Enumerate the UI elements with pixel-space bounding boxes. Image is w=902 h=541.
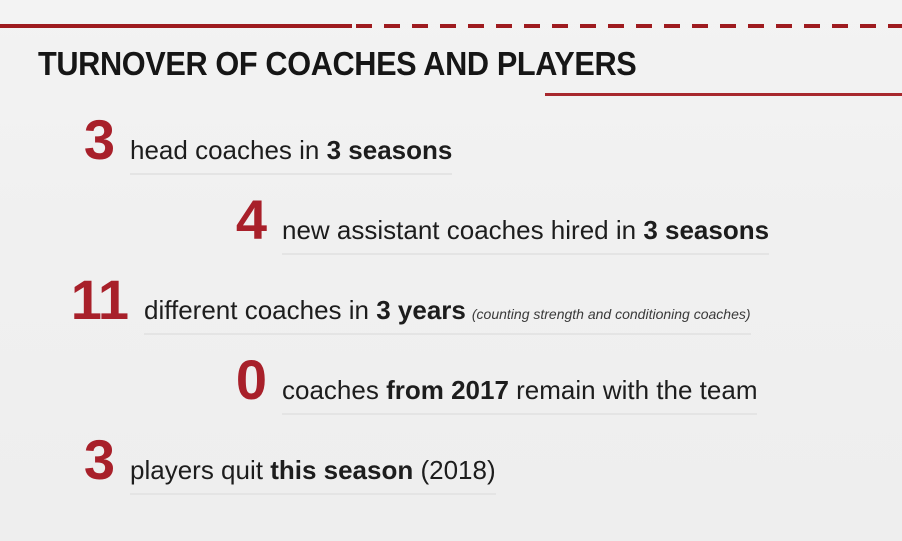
stat-note: (counting strength and conditioning coac… [472, 306, 751, 322]
stat-row: 0 coaches from 2017 remain with the team [0, 352, 902, 432]
stat-text: coaches from 2017 remain with the team [282, 376, 757, 405]
stat-text-wrap: head coaches in 3 seasons [130, 136, 452, 175]
stat-text-bold: 3 seasons [643, 215, 769, 245]
stat-text-before: new assistant coaches hired in [282, 215, 643, 245]
stat-text: players quit this season (2018) [130, 456, 496, 485]
stat-row: 3 players quit this season (2018) [0, 432, 902, 512]
stat-text: different coaches in 3 years(counting st… [144, 296, 751, 325]
top-decorative-rule [0, 24, 902, 28]
top-rule-solid-segment [0, 24, 352, 28]
stat-text-before: coaches [282, 375, 386, 405]
stat-text-bold: 3 years [376, 295, 466, 325]
page-title: TURNOVER OF COACHES AND PLAYERS [38, 45, 636, 83]
stat-number: 4 [222, 192, 266, 248]
stats-list: 3 head coaches in 3 seasons 4 new assist… [0, 112, 902, 512]
stat-number: 0 [222, 352, 266, 408]
stat-text-before: head coaches in [130, 135, 327, 165]
stat-text: head coaches in 3 seasons [130, 136, 452, 165]
stat-text-wrap: different coaches in 3 years(counting st… [144, 296, 751, 335]
stat-text: new assistant coaches hired in 3 seasons [282, 216, 769, 245]
stat-text-after: remain with the team [509, 375, 758, 405]
stat-text-bold: 3 seasons [327, 135, 453, 165]
stat-number: 3 [70, 112, 114, 168]
stat-text-bold: from 2017 [386, 375, 509, 405]
stat-text-before: different coaches in [144, 295, 376, 325]
stat-text-wrap: new assistant coaches hired in 3 seasons [282, 216, 769, 255]
stat-text-bold: this season [270, 455, 413, 485]
stat-row: 11 different coaches in 3 years(counting… [0, 272, 902, 352]
stat-number: 3 [70, 432, 114, 488]
stat-number: 11 [52, 272, 128, 328]
top-rule-dashed-segment [356, 24, 902, 28]
stat-text-before: players quit [130, 455, 270, 485]
stat-text-wrap: players quit this season (2018) [130, 456, 496, 495]
title-underline-rule [545, 93, 902, 96]
stat-text-after: (2018) [413, 455, 495, 485]
stat-text-wrap: coaches from 2017 remain with the team [282, 376, 757, 415]
stat-row: 3 head coaches in 3 seasons [0, 112, 902, 192]
infographic-canvas: TURNOVER OF COACHES AND PLAYERS 3 head c… [0, 0, 902, 541]
stat-row: 4 new assistant coaches hired in 3 seaso… [0, 192, 902, 272]
